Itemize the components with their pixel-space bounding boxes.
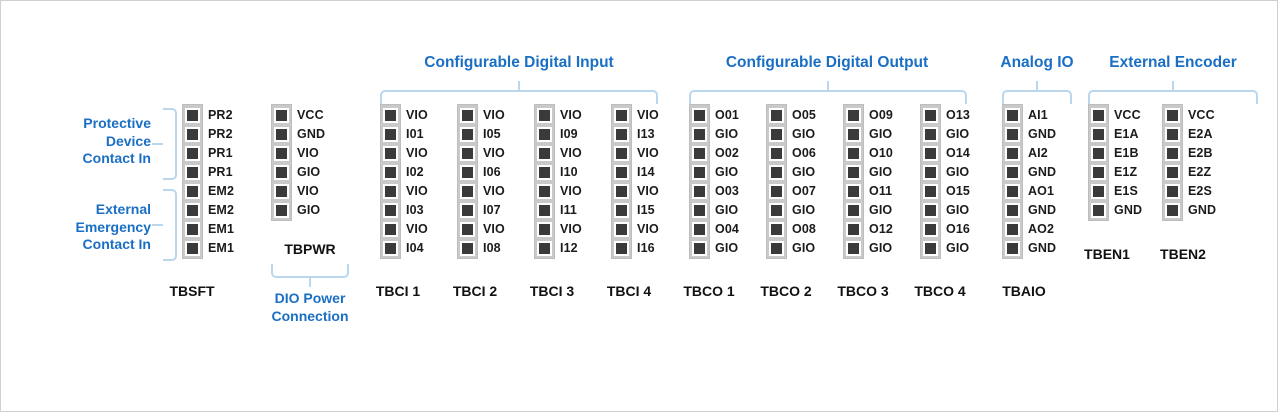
bracket-digital-input	[380, 90, 658, 104]
connector-tbci-4[interactable]: VIO I13 VIO I14 VIO I15 VIO I16	[611, 104, 632, 259]
pin-label: I11	[560, 203, 577, 217]
pin-row[interactable]: AO1	[1005, 183, 1020, 199]
pin-row[interactable]: GND	[274, 126, 289, 142]
pin-row[interactable]: E1Z	[1091, 164, 1106, 180]
pin-row[interactable]: VIO	[537, 221, 552, 237]
pin-contact[interactable]	[923, 108, 938, 123]
pin-row[interactable]: I03	[383, 202, 398, 218]
pin-row[interactable]: O11	[846, 183, 861, 199]
pin-label: PR2	[208, 127, 233, 141]
pin-label: I13	[637, 127, 655, 141]
pin-row[interactable]: VCC	[1091, 107, 1106, 123]
pin-row[interactable]: PR2	[185, 107, 200, 123]
pin-row[interactable]: E1B	[1091, 145, 1106, 161]
pin-row[interactable]: O10	[846, 145, 861, 161]
pin-row[interactable]: VCC	[274, 107, 289, 123]
connector-tbsft[interactable]: PR2 PR2 PR1 PR1 EM2 EM2 EM1 EM1	[182, 104, 203, 259]
pin-contact[interactable]	[460, 203, 475, 218]
pin-contact[interactable]	[692, 203, 707, 218]
pin-label: GIO	[869, 165, 892, 179]
pin-label: GIO	[869, 241, 892, 255]
bracket-stem	[152, 143, 163, 145]
pin-row[interactable]: GND	[1005, 164, 1020, 180]
pin-label: GND	[1028, 241, 1056, 255]
pin-row[interactable]: I10	[537, 164, 552, 180]
pin-contact[interactable]	[383, 184, 398, 199]
pin-contact[interactable]	[1091, 184, 1106, 199]
pin-row[interactable]: GIO	[692, 126, 707, 142]
pin-row[interactable]: VIO	[383, 221, 398, 237]
pin-label: AO2	[1028, 222, 1054, 236]
pin-contact[interactable]	[383, 146, 398, 161]
pin-row[interactable]: GIO	[846, 126, 861, 142]
pin-label: GIO	[715, 127, 738, 141]
pin-contact[interactable]	[383, 203, 398, 218]
pin-contact[interactable]	[460, 127, 475, 142]
pin-contact[interactable]	[769, 184, 784, 199]
pin-label: E1A	[1114, 127, 1139, 141]
pin-row[interactable]: E2Z	[1165, 164, 1180, 180]
pin-row[interactable]: VIO	[460, 107, 475, 123]
pin-strip: O01 GIO O02 GIO O03 GIO O04 GIO	[689, 104, 710, 259]
pin-row[interactable]: GIO	[846, 240, 861, 256]
pin-contact[interactable]	[1165, 127, 1180, 142]
pin-contact[interactable]	[923, 203, 938, 218]
pin-row[interactable]: EM1	[185, 221, 200, 237]
pin-contact[interactable]	[769, 222, 784, 237]
pin-contact[interactable]	[274, 127, 289, 142]
pin-label: VIO	[483, 222, 505, 236]
pin-label: GIO	[297, 203, 320, 217]
bracket-digital-output	[689, 90, 967, 104]
pin-label: EM1	[208, 241, 234, 255]
pin-row[interactable]: O04	[692, 221, 707, 237]
pin-row[interactable]: VIO	[383, 183, 398, 199]
pin-row[interactable]: GIO	[769, 126, 784, 142]
group-title-analog-io: Analog IO	[985, 54, 1089, 72]
pin-row[interactable]: GIO	[769, 240, 784, 256]
pin-contact[interactable]	[1005, 165, 1020, 180]
pin-row[interactable]: O13	[923, 107, 938, 123]
bracket-stem	[152, 224, 163, 226]
pin-contact[interactable]	[614, 184, 629, 199]
pin-contact[interactable]	[185, 146, 200, 161]
pin-row[interactable]: GIO	[769, 202, 784, 218]
pin-row[interactable]: I04	[383, 240, 398, 256]
pin-contact[interactable]	[1005, 146, 1020, 161]
pin-row[interactable]: I14	[614, 164, 629, 180]
pin-contact[interactable]	[185, 203, 200, 218]
pin-label: PR2	[208, 108, 233, 122]
pin-row[interactable]: O12	[846, 221, 861, 237]
pin-row[interactable]: VIO	[460, 221, 475, 237]
pin-contact[interactable]	[769, 241, 784, 256]
pin-contact[interactable]	[383, 241, 398, 256]
pin-row[interactable]: O08	[769, 221, 784, 237]
pin-row[interactable]: GIO	[923, 240, 938, 256]
pin-contact[interactable]	[274, 165, 289, 180]
pin-row[interactable]: PR1	[185, 164, 200, 180]
pin-contact[interactable]	[769, 165, 784, 180]
pin-row[interactable]: VIO	[383, 107, 398, 123]
pin-row[interactable]: E2A	[1165, 126, 1180, 142]
pin-row[interactable]: GIO	[923, 164, 938, 180]
pin-row[interactable]: O15	[923, 183, 938, 199]
under-label-dio-power: DIO Power Connection	[254, 290, 366, 325]
pin-contact[interactable]	[185, 241, 200, 256]
pin-contact[interactable]	[1005, 127, 1020, 142]
pin-row[interactable]: O14	[923, 145, 938, 161]
pin-contact[interactable]	[923, 241, 938, 256]
pin-contact[interactable]	[692, 222, 707, 237]
pin-label: I05	[483, 127, 501, 141]
pin-contact[interactable]	[1005, 222, 1020, 237]
pin-label: I04	[406, 241, 424, 255]
pin-contact[interactable]	[383, 222, 398, 237]
pin-label: O10	[869, 146, 893, 160]
pin-label: VCC	[1188, 108, 1215, 122]
pin-label: GIO	[946, 241, 969, 255]
bracket-external-encoder	[1088, 90, 1258, 104]
pin-label: GIO	[946, 165, 969, 179]
connector-tbco-4[interactable]: O13 GIO O14 GIO O15 GIO O16 GIO	[920, 104, 941, 259]
pin-row[interactable]: PR2	[185, 126, 200, 142]
pin-row[interactable]: I16	[614, 240, 629, 256]
pin-row[interactable]: O07	[769, 183, 784, 199]
pin-contact[interactable]	[274, 184, 289, 199]
pin-contact[interactable]	[383, 108, 398, 123]
pin-row[interactable]: VIO	[383, 145, 398, 161]
pin-contact[interactable]	[846, 203, 861, 218]
pin-label: GND	[1114, 203, 1142, 217]
pin-contact[interactable]	[1165, 108, 1180, 123]
pin-row[interactable]: O05	[769, 107, 784, 123]
connector-tbco-1[interactable]: O01 GIO O02 GIO O03 GIO O04 GIO	[689, 104, 710, 259]
pin-contact[interactable]	[185, 222, 200, 237]
pin-label: GND	[1188, 203, 1216, 217]
pin-row[interactable]: O02	[692, 145, 707, 161]
pin-row[interactable]: I05	[460, 126, 475, 142]
pin-row[interactable]: GIO	[769, 164, 784, 180]
pin-row[interactable]: GND	[1165, 202, 1180, 218]
pin-contact[interactable]	[769, 108, 784, 123]
pin-contact[interactable]	[383, 165, 398, 180]
pin-row[interactable]: I02	[383, 164, 398, 180]
pin-contact[interactable]	[1165, 165, 1180, 180]
pin-contact[interactable]	[1005, 108, 1020, 123]
pin-label: VIO	[483, 184, 505, 198]
pin-contact[interactable]	[692, 241, 707, 256]
pin-contact[interactable]	[274, 108, 289, 123]
pin-contact[interactable]	[923, 127, 938, 142]
pin-contact[interactable]	[537, 146, 552, 161]
pin-contact[interactable]	[537, 108, 552, 123]
pin-contact[interactable]	[692, 127, 707, 142]
pin-contact[interactable]	[185, 127, 200, 142]
connector-tbco-2[interactable]: O05 GIO O06 GIO O07 GIO O08 GIO	[766, 104, 787, 259]
pin-row[interactable]: I13	[614, 126, 629, 142]
pin-strip: VCC E1A E1B E1Z E1S GND	[1088, 104, 1109, 221]
pin-label: I10	[560, 165, 578, 179]
pin-row[interactable]: AI2	[1005, 145, 1020, 161]
pin-row[interactable]: GIO	[846, 202, 861, 218]
pin-row[interactable]: VIO	[274, 145, 289, 161]
pin-contact[interactable]	[537, 222, 552, 237]
pin-row[interactable]: VCC	[1165, 107, 1180, 123]
pin-row[interactable]: O06	[769, 145, 784, 161]
block-name-tben2: TBEN2	[1135, 246, 1231, 262]
pin-row[interactable]: O16	[923, 221, 938, 237]
pin-label: GIO	[792, 165, 815, 179]
pin-contact[interactable]	[274, 146, 289, 161]
pin-label: VIO	[297, 146, 319, 160]
pin-contact[interactable]	[185, 165, 200, 180]
pin-label: VIO	[560, 184, 582, 198]
pin-contact[interactable]	[769, 203, 784, 218]
pin-label: PR1	[208, 165, 233, 179]
pin-row[interactable]: E2B	[1165, 145, 1180, 161]
pin-label: E1S	[1114, 184, 1138, 198]
pin-label: VIO	[297, 184, 319, 198]
pin-contact[interactable]	[614, 165, 629, 180]
pin-row[interactable]: GIO	[692, 164, 707, 180]
pin-label: VIO	[406, 108, 428, 122]
connector-tbpwr[interactable]: VCC GND VIO GIO VIO GIO	[271, 104, 292, 221]
pin-row[interactable]: GND	[1005, 202, 1020, 218]
pin-contact[interactable]	[1091, 146, 1106, 161]
pin-contact[interactable]	[923, 146, 938, 161]
pin-contact[interactable]	[769, 127, 784, 142]
pin-contact[interactable]	[923, 222, 938, 237]
pin-row[interactable]: O03	[692, 183, 707, 199]
pin-contact[interactable]	[923, 184, 938, 199]
pin-contact[interactable]	[846, 222, 861, 237]
connector-tbci-3[interactable]: VIO I09 VIO I10 VIO I11 VIO I12	[534, 104, 555, 259]
pin-label: I07	[483, 203, 501, 217]
pin-label: GIO	[715, 165, 738, 179]
pin-label: VIO	[637, 184, 659, 198]
pin-contact[interactable]	[383, 127, 398, 142]
pin-row[interactable]: GIO	[274, 202, 289, 218]
pin-contact[interactable]	[769, 146, 784, 161]
pin-label: GIO	[715, 203, 738, 217]
pin-row[interactable]: GIO	[923, 126, 938, 142]
pin-row[interactable]: VIO	[537, 145, 552, 161]
pin-label: I03	[406, 203, 424, 217]
pin-contact[interactable]	[846, 146, 861, 161]
pin-row[interactable]: I08	[460, 240, 475, 256]
pin-row[interactable]: E1S	[1091, 183, 1106, 199]
pin-row[interactable]: AO2	[1005, 221, 1020, 237]
pin-label: I08	[483, 241, 501, 255]
block-name-tbpwr: TBPWR	[255, 241, 365, 257]
pin-contact[interactable]	[846, 165, 861, 180]
pin-contact[interactable]	[460, 184, 475, 199]
pin-contact[interactable]	[692, 184, 707, 199]
pin-label: E2S	[1188, 184, 1212, 198]
pin-contact[interactable]	[692, 146, 707, 161]
pin-label: GIO	[946, 127, 969, 141]
pin-contact[interactable]	[846, 184, 861, 199]
bracket-stem	[1036, 81, 1038, 92]
pin-label: O06	[792, 146, 816, 160]
pin-label: VIO	[560, 222, 582, 236]
pin-label: O03	[715, 184, 739, 198]
pin-row[interactable]: VIO	[614, 221, 629, 237]
pin-contact[interactable]	[1005, 184, 1020, 199]
pin-contact[interactable]	[460, 108, 475, 123]
pin-label: I14	[637, 165, 655, 179]
pin-label: PR1	[208, 146, 233, 160]
pin-row[interactable]: EM2	[185, 202, 200, 218]
pin-label: I01	[406, 127, 424, 141]
group-title-digital-input: Configurable Digital Input	[397, 54, 641, 72]
pin-row[interactable]: VIO	[614, 107, 629, 123]
connector-tben1[interactable]: VCC E1A E1B E1Z E1S GND	[1088, 104, 1109, 221]
pin-contact[interactable]	[614, 146, 629, 161]
pin-label: VIO	[637, 108, 659, 122]
pin-row[interactable]: GIO	[846, 164, 861, 180]
bracket-external-emergency	[163, 189, 177, 261]
pin-label: AI2	[1028, 146, 1048, 160]
pin-contact[interactable]	[1091, 108, 1106, 123]
pin-strip: O09 GIO O10 GIO O11 GIO O12 GIO	[843, 104, 864, 259]
pin-row[interactable]: VIO	[614, 183, 629, 199]
pin-contact[interactable]	[460, 222, 475, 237]
pin-contact[interactable]	[614, 127, 629, 142]
pin-contact[interactable]	[1005, 241, 1020, 256]
pin-row[interactable]: E1A	[1091, 126, 1106, 142]
pin-row[interactable]: O01	[692, 107, 707, 123]
pin-row[interactable]: PR1	[185, 145, 200, 161]
pin-contact[interactable]	[1091, 127, 1106, 142]
pin-row[interactable]: AI1	[1005, 107, 1020, 123]
bracket-analog-io	[1002, 90, 1072, 104]
pin-contact[interactable]	[1091, 203, 1106, 218]
pin-strip: PR2 PR2 PR1 PR1 EM2 EM2 EM1 EM1	[182, 104, 203, 259]
pin-contact[interactable]	[460, 146, 475, 161]
pin-contact[interactable]	[1005, 203, 1020, 218]
pin-label: O15	[946, 184, 970, 198]
pin-row[interactable]: VIO	[537, 183, 552, 199]
pin-row[interactable]: EM2	[185, 183, 200, 199]
pin-row[interactable]: I12	[537, 240, 552, 256]
pin-row[interactable]: I01	[383, 126, 398, 142]
pin-contact[interactable]	[846, 108, 861, 123]
pin-contact[interactable]	[537, 241, 552, 256]
block-name-tbaio: TBAIO	[979, 283, 1069, 299]
pin-row[interactable]: O09	[846, 107, 861, 123]
pin-contact[interactable]	[692, 108, 707, 123]
pin-label: E1B	[1114, 146, 1139, 160]
pin-contact[interactable]	[1165, 146, 1180, 161]
bracket-stem	[1172, 81, 1174, 92]
pin-label: AO1	[1028, 184, 1054, 198]
pin-contact[interactable]	[1091, 165, 1106, 180]
pin-contact[interactable]	[185, 184, 200, 199]
pin-label: GIO	[869, 203, 892, 217]
connector-tbaio[interactable]: AI1 GND AI2 GND AO1 GND AO2 GND	[1002, 104, 1023, 259]
pin-strip: O13 GIO O14 GIO O15 GIO O16 GIO	[920, 104, 941, 259]
pin-label: VIO	[406, 146, 428, 160]
pin-label: O08	[792, 222, 816, 236]
pin-row[interactable]: VIO	[614, 145, 629, 161]
pin-row[interactable]: GIO	[692, 240, 707, 256]
pin-contact[interactable]	[1165, 203, 1180, 218]
pin-row[interactable]: VIO	[274, 183, 289, 199]
pin-row[interactable]: VIO	[537, 107, 552, 123]
pin-contact[interactable]	[923, 165, 938, 180]
pin-row[interactable]: VIO	[460, 145, 475, 161]
pin-label: EM2	[208, 184, 234, 198]
pin-row[interactable]: GND	[1091, 202, 1106, 218]
pin-row[interactable]: I07	[460, 202, 475, 218]
pin-strip: VCC GND VIO GIO VIO GIO	[271, 104, 292, 221]
connector-tben2[interactable]: VCC E2A E2B E2Z E2S GND	[1162, 104, 1183, 221]
pin-label: GND	[1028, 203, 1056, 217]
pin-row[interactable]: GND	[1005, 126, 1020, 142]
pin-row[interactable]: GIO	[274, 164, 289, 180]
pin-contact[interactable]	[274, 203, 289, 218]
side-label-protective-device: Protective Device Contact In	[31, 115, 151, 168]
pin-label: VIO	[560, 108, 582, 122]
pin-contact[interactable]	[692, 165, 707, 180]
pin-row[interactable]: I15	[614, 202, 629, 218]
pin-label: EM1	[208, 222, 234, 236]
pin-label: VIO	[483, 146, 505, 160]
pin-contact[interactable]	[460, 241, 475, 256]
pin-row[interactable]: I09	[537, 126, 552, 142]
pin-contact[interactable]	[185, 108, 200, 123]
pin-contact[interactable]	[614, 108, 629, 123]
pin-label: GND	[297, 127, 325, 141]
pin-contact[interactable]	[614, 203, 629, 218]
connector-tbci-1[interactable]: VIO I01 VIO I02 VIO I03 VIO I04	[380, 104, 401, 259]
pin-contact[interactable]	[537, 127, 552, 142]
connector-tbci-2[interactable]: VIO I05 VIO I06 VIO I07 VIO I08	[457, 104, 478, 259]
pin-contact[interactable]	[460, 165, 475, 180]
pin-row[interactable]: E2S	[1165, 183, 1180, 199]
pin-row[interactable]: I11	[537, 202, 552, 218]
pin-row[interactable]: I06	[460, 164, 475, 180]
pin-label: GIO	[297, 165, 320, 179]
pin-contact[interactable]	[846, 241, 861, 256]
pin-label: VIO	[637, 146, 659, 160]
pin-row[interactable]: EM1	[185, 240, 200, 256]
pin-strip: VIO I05 VIO I06 VIO I07 VIO I08	[457, 104, 478, 259]
pin-contact[interactable]	[614, 241, 629, 256]
pin-strip: AI1 GND AI2 GND AO1 GND AO2 GND	[1002, 104, 1023, 259]
pin-contact[interactable]	[537, 203, 552, 218]
connector-tbco-3[interactable]: O09 GIO O10 GIO O11 GIO O12 GIO	[843, 104, 864, 259]
pin-row[interactable]: GIO	[923, 202, 938, 218]
pin-row[interactable]: VIO	[460, 183, 475, 199]
pin-contact[interactable]	[1165, 184, 1180, 199]
pin-row[interactable]: GND	[1005, 240, 1020, 256]
pin-label: O11	[869, 184, 892, 198]
pin-label: GIO	[946, 203, 969, 217]
pin-contact[interactable]	[537, 184, 552, 199]
pin-strip: VIO I01 VIO I02 VIO I03 VIO I04	[380, 104, 401, 259]
pin-row[interactable]: GIO	[692, 202, 707, 218]
pin-strip: VCC E2A E2B E2Z E2S GND	[1162, 104, 1183, 221]
pin-label: E2B	[1188, 146, 1213, 160]
pin-contact[interactable]	[614, 222, 629, 237]
pin-label: GIO	[792, 203, 815, 217]
pin-contact[interactable]	[846, 127, 861, 142]
pin-contact[interactable]	[537, 165, 552, 180]
bracket-dio-power	[271, 264, 349, 278]
